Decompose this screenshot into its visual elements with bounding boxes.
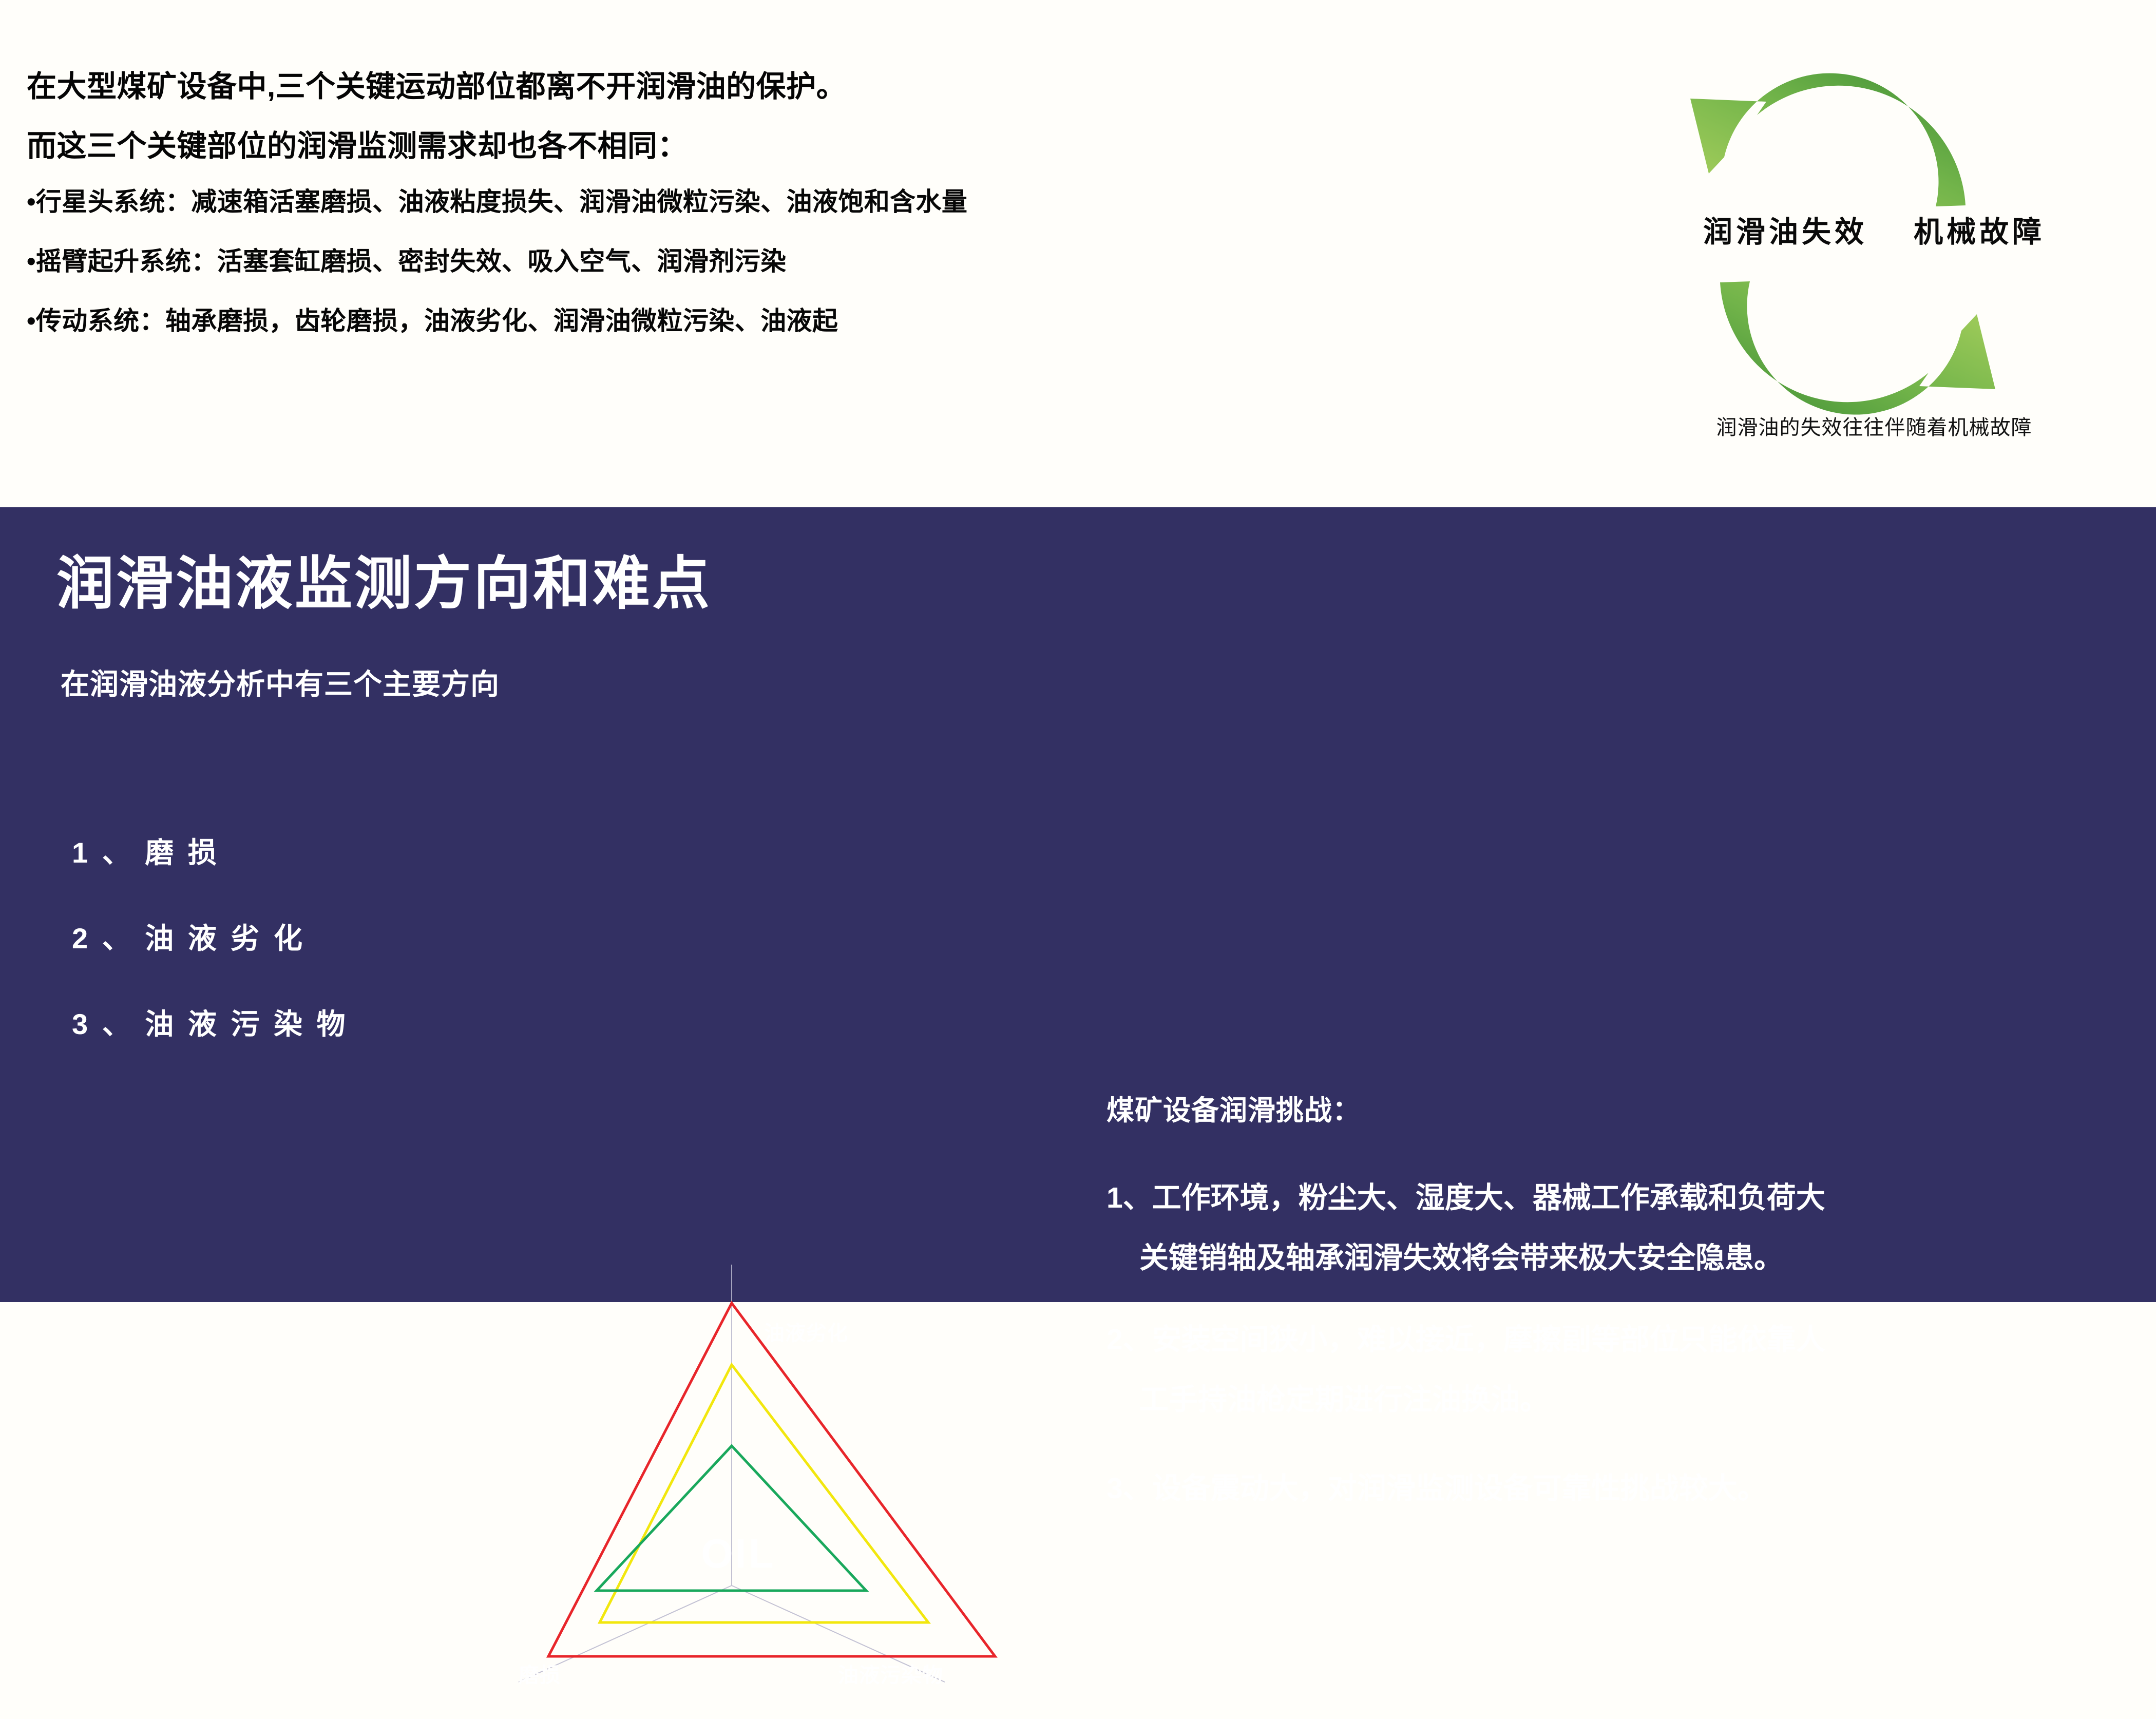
triangle-ring-middle	[600, 1365, 928, 1622]
challenge-item-3: 3、设备震动大，对润滑监测设备可靠性挑战较大。	[1106, 1474, 2123, 1503]
challenge-3-line-1: 3、设备震动大，对润滑监测设备可靠性挑战较大。	[1106, 1474, 2123, 1503]
oil-analysis-triangle-diagram: OIL 油液劣化 磨损 油液污染物	[462, 1236, 1037, 1719]
challenge-1-line-1: 1、工作环境，粉尘大、湿度大、器械工作承载和负荷大	[1106, 1183, 2123, 1213]
triangle-vertex-label-wear: 磨损	[519, 1658, 561, 1688]
challenge-item-1: 1、工作环境，粉尘大、湿度大、器械工作承载和负荷大 关键销轴及轴承润滑失效将会带…	[1106, 1183, 2123, 1273]
lubrication-failure-cycle-graphic: 润滑油失效 机械故障 润滑油的失效往往伴随着机械故障	[1617, 56, 2131, 483]
nested-triangles-icon	[462, 1236, 1037, 1719]
direction-item-wear: 1 、 磨 损	[72, 830, 462, 871]
direction-item-degradation: 2 、 油 液 劣 化	[72, 915, 462, 957]
challenge-1-line-2: 关键销轴及轴承润滑失效将会带来极大安全隐患。	[1106, 1244, 2123, 1273]
oil-center-label: OIL	[451, 1530, 1026, 1577]
bullet-rocker-lift: •摇臂起升系统：活塞套缸磨损、密封失效、吸入空气、润滑剂污染	[27, 249, 1541, 274]
challenge-item-2: 2、安装空间狭小，难以接近，摩擦副等部位只能依靠人 工手持油枪定期进行注油换油。	[1106, 1325, 2123, 1415]
direction-item-contaminants: 3 、 油 液 污 染 物	[72, 1001, 462, 1043]
triangle-vertex-label-contaminants: 油液污染物	[838, 1658, 943, 1688]
challenges-column: 煤矿设备润滑挑战： 1、工作环境，粉尘大、湿度大、器械工作承载和负荷大 关键销轴…	[1106, 1087, 2123, 1556]
cycle-label-machine-fault: 机械故障	[1914, 208, 2045, 251]
bullet-transmission: •传动系统：轴承磨损，齿轮磨损，油液劣化、润滑油微粒污染、油液起	[27, 308, 1541, 334]
monitoring-directions-panel: 润滑油液监测方向和难点 在润滑油液分析中有三个主要方向 1 、 磨 损 2 、 …	[0, 507, 2156, 1302]
intro-line-2: 而这三个关键部位的润滑监测需求却也各不相同：	[27, 131, 1541, 161]
panel-subtitle: 在润滑油液分析中有三个主要方向	[61, 661, 500, 703]
cycle-label-oil-failure: 润滑油失效	[1703, 208, 1867, 251]
intro-line-1: 在大型煤矿设备中,三个关键运动部位都离不开润滑油的保护。	[27, 72, 1541, 102]
cycle-arrow-bottom	[1720, 281, 1995, 415]
direction-list: 1 、 磨 损 2 、 油 液 劣 化 3 、 油 液 污 染 物	[72, 830, 462, 1087]
triangle-vertex-label-degradation: 油液劣化	[764, 1316, 848, 1346]
challenge-2-line-1: 2、安装空间狭小，难以接近，摩擦副等部位只能依靠人	[1106, 1325, 2123, 1354]
challenge-2-line-2: 工手持油枪定期进行注油换油。	[1106, 1385, 2123, 1415]
top-white-section: 在大型煤矿设备中,三个关键运动部位都离不开润滑油的保护。 而这三个关键部位的润滑…	[0, 0, 2156, 507]
cycle-arrow-top	[1690, 73, 1966, 206]
intro-text-block: 在大型煤矿设备中,三个关键运动部位都离不开润滑油的保护。 而这三个关键部位的润滑…	[27, 72, 1541, 368]
cycle-label-row: 润滑油失效 机械故障	[1617, 208, 2131, 251]
challenges-heading: 煤矿设备润滑挑战：	[1106, 1087, 2123, 1128]
page-title: 润滑油液监测方向和难点	[56, 537, 712, 620]
bullet-planetary-head: •行星头系统：减速箱活塞磨损、油液粘度损失、润滑油微粒污染、油液饱和含水量	[27, 189, 1541, 215]
cycle-caption: 润滑油的失效往往伴随着机械故障	[1617, 411, 2131, 441]
